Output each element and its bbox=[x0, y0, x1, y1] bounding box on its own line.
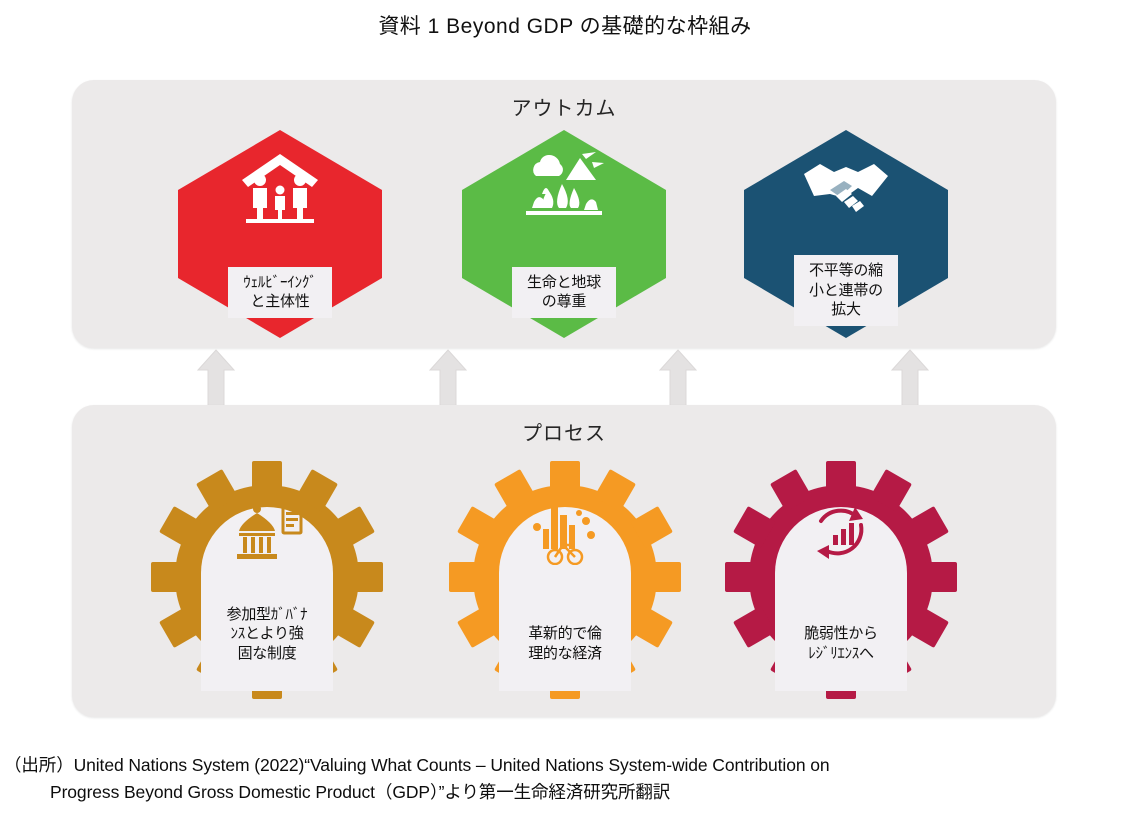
process-card-governance[interactable]: 参加型ｶﾞﾊﾞﾅ ﾝｽとより強 固な制度 bbox=[148, 457, 386, 703]
outcome-card-label: ｳｪﾙﾋﾞｰｲﾝｸﾞ と主体性 bbox=[228, 267, 332, 318]
label-line: ｳｪﾙﾋﾞｰｲﾝｸﾞ bbox=[235, 273, 325, 292]
process-card-label: 脆弱性から ﾚｼﾞﾘｴﾝｽへ bbox=[779, 619, 903, 669]
handshake-icon bbox=[800, 150, 892, 224]
up-arrow-icon bbox=[196, 348, 236, 406]
label-line: 理的な経済 bbox=[507, 644, 623, 664]
family-under-roof-icon bbox=[234, 150, 326, 224]
outcome-card-label: 生命と地球 の尊重 bbox=[512, 267, 616, 318]
label-line: ﾝｽとより強 bbox=[209, 624, 325, 644]
label-line: 不平等の縮 bbox=[801, 261, 891, 280]
source-line-2: Progress Beyond Gross Domestic Product（G… bbox=[4, 779, 1126, 806]
process-card-row: 参加型ｶﾞﾊﾞﾅ ﾝｽとより強 固な制度 bbox=[72, 457, 1056, 707]
arrow-band bbox=[72, 348, 1056, 406]
label-line: 生命と地球 bbox=[519, 273, 609, 292]
label-line: 参加型ｶﾞﾊﾞﾅ bbox=[209, 605, 325, 625]
label-line: ﾚｼﾞﾘｴﾝｽへ bbox=[783, 644, 899, 664]
label-line: 脆弱性から bbox=[783, 624, 899, 644]
outcome-card-label: 不平等の縮 小と連帯の 拡大 bbox=[794, 255, 898, 326]
up-arrow-icon bbox=[658, 348, 698, 406]
label-line: 革新的で倫 bbox=[507, 624, 623, 644]
up-arrow-icon bbox=[428, 348, 468, 406]
process-panel-heading: プロセス bbox=[72, 417, 1056, 446]
process-card-ethical-economy[interactable]: 革新的で倫 理的な経済 bbox=[446, 457, 684, 703]
label-line: 固な制度 bbox=[209, 644, 325, 664]
process-panel: プロセス bbox=[72, 405, 1056, 717]
source-note: （出所）United Nations System (2022)“Valuing… bbox=[4, 752, 1126, 806]
process-card-resilience[interactable]: 脆弱性から ﾚｼﾞﾘｴﾝｽへ bbox=[722, 457, 960, 703]
up-arrow-icon bbox=[890, 348, 930, 406]
outcome-card-equality-solidarity[interactable]: 不平等の縮 小と連帯の 拡大 bbox=[740, 128, 952, 340]
nature-landscape-icon bbox=[518, 150, 610, 224]
label-line: と主体性 bbox=[235, 292, 325, 311]
page-title: 資料 1 Beyond GDP の基礎的な枠組み bbox=[0, 10, 1130, 40]
source-line-1: （出所）United Nations System (2022)“Valuing… bbox=[4, 755, 829, 775]
government-building-icon bbox=[231, 503, 303, 565]
outcome-card-life-and-planet[interactable]: 生命と地球 の尊重 bbox=[458, 128, 670, 340]
label-line: 拡大 bbox=[801, 300, 891, 319]
outcome-panel-heading: アウトカム bbox=[72, 92, 1056, 121]
outcome-card-wellbeing[interactable]: ｳｪﾙﾋﾞｰｲﾝｸﾞ と主体性 bbox=[174, 128, 386, 340]
process-card-label: 革新的で倫 理的な経済 bbox=[503, 619, 627, 669]
recovery-cycle-chart-icon bbox=[805, 503, 877, 565]
city-bicycle-icon bbox=[529, 503, 601, 565]
process-card-label: 参加型ｶﾞﾊﾞﾅ ﾝｽとより強 固な制度 bbox=[205, 600, 329, 670]
label-line: 小と連帯の bbox=[801, 281, 891, 300]
outcome-card-row: ｳｪﾙﾋﾞｰｲﾝｸﾞ と主体性 生命 bbox=[72, 128, 1056, 343]
outcome-panel: アウトカム ｳｪﾙﾋﾞｰｲﾝｸﾞ と主体性 bbox=[72, 80, 1056, 348]
label-line: の尊重 bbox=[519, 292, 609, 311]
